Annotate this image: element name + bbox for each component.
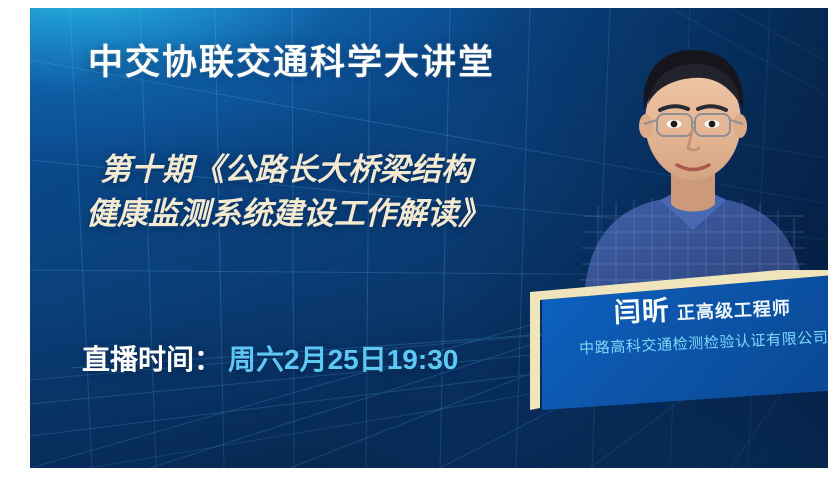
live-time: 直播时间：周六2月25日19:30 bbox=[82, 338, 458, 378]
live-time-value: 周六2月25日19:30 bbox=[228, 344, 458, 375]
subtitle-line-2: 健康监测系统建设工作解读》 bbox=[86, 192, 606, 236]
subtitle-line-1: 第十期《公路长大桥梁结构 bbox=[86, 148, 606, 192]
speaker-title: 正高级工程师 bbox=[677, 298, 792, 323]
speaker-portrait-illustration bbox=[578, 16, 808, 298]
speaker-name: 闫昕 bbox=[613, 296, 670, 329]
episode-subtitle: 第十期《公路长大桥梁结构 健康监测系统建设工作解读》 bbox=[86, 148, 606, 236]
avatar bbox=[578, 16, 808, 298]
speaker-info-panel: 闫昕正高级工程师 中路高科交通检测检验认证有限公司 bbox=[524, 270, 828, 430]
live-event-poster: 中交协联交通科学大讲堂 第十期《公路长大桥梁结构 健康监测系统建设工作解读》 直… bbox=[0, 0, 840, 480]
poster-card-background: 中交协联交通科学大讲堂 第十期《公路长大桥梁结构 健康监测系统建设工作解读》 直… bbox=[30, 8, 828, 468]
live-time-label: 直播时间： bbox=[82, 344, 222, 375]
page-title: 中交协联交通科学大讲堂 bbox=[88, 34, 495, 85]
